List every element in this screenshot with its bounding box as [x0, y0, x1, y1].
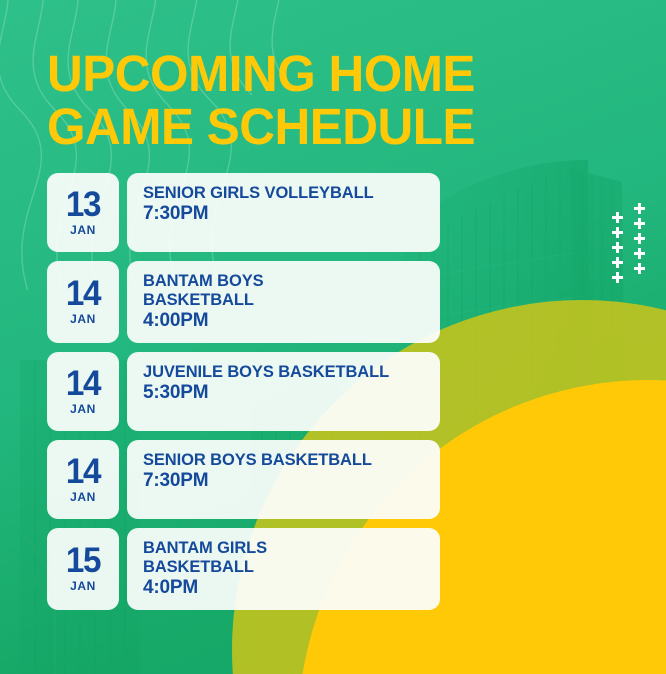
date-day: 14	[66, 455, 100, 489]
game-time: 4:0PM	[143, 577, 426, 599]
game-time: 5:30PM	[143, 382, 426, 404]
game-info-card: JUVENILE BOYS BASKETBALL 5:30PM	[127, 352, 440, 431]
date-card: 14 JAN	[47, 261, 119, 343]
game-info-card: BANTAM BOYS BASKETBALL 4:00PM	[127, 261, 440, 343]
date-day: 14	[66, 277, 100, 311]
date-month: JAN	[70, 312, 96, 326]
game-schedule-list: 13 JAN SENIOR GIRLS VOLLEYBALL 7:30PM 14…	[47, 173, 440, 619]
list-item[interactable]: 14 JAN BANTAM BOYS BASKETBALL 4:00PM	[47, 261, 440, 343]
date-day: 13	[66, 188, 100, 222]
date-month: JAN	[70, 223, 96, 237]
date-card: 15 JAN	[47, 528, 119, 610]
poster-canvas: UPCOMING HOME GAME SCHEDULE 13 JAN SENIO…	[0, 0, 666, 674]
page-title: UPCOMING HOME GAME SCHEDULE	[47, 47, 503, 153]
list-item[interactable]: 15 JAN BANTAM GIRLS BASKETBALL 4:0PM	[47, 528, 440, 610]
date-month: JAN	[70, 490, 96, 504]
game-name: BANTAM GIRLS BASKETBALL	[143, 539, 426, 577]
date-card: 13 JAN	[47, 173, 119, 252]
game-name: SENIOR BOYS BASKETBALL	[143, 451, 426, 470]
list-item[interactable]: 14 JAN JUVENILE BOYS BASKETBALL 5:30PM	[47, 352, 440, 431]
game-info-card: BANTAM GIRLS BASKETBALL 4:0PM	[127, 528, 440, 610]
game-name: SENIOR GIRLS VOLLEYBALL	[143, 184, 426, 203]
date-card: 14 JAN	[47, 440, 119, 519]
list-item[interactable]: 14 JAN SENIOR BOYS BASKETBALL 7:30PM	[47, 440, 440, 519]
game-info-card: SENIOR BOYS BASKETBALL 7:30PM	[127, 440, 440, 519]
game-name: JUVENILE BOYS BASKETBALL	[143, 363, 426, 382]
date-day: 14	[66, 367, 100, 401]
game-time: 4:00PM	[143, 310, 426, 332]
game-time: 7:30PM	[143, 203, 426, 225]
date-month: JAN	[70, 402, 96, 416]
date-card: 14 JAN	[47, 352, 119, 431]
game-time: 7:30PM	[143, 470, 426, 492]
game-name: BANTAM BOYS BASKETBALL	[143, 272, 426, 310]
list-item[interactable]: 13 JAN SENIOR GIRLS VOLLEYBALL 7:30PM	[47, 173, 440, 252]
date-day: 15	[66, 544, 100, 578]
game-info-card: SENIOR GIRLS VOLLEYBALL 7:30PM	[127, 173, 440, 252]
date-month: JAN	[70, 579, 96, 593]
